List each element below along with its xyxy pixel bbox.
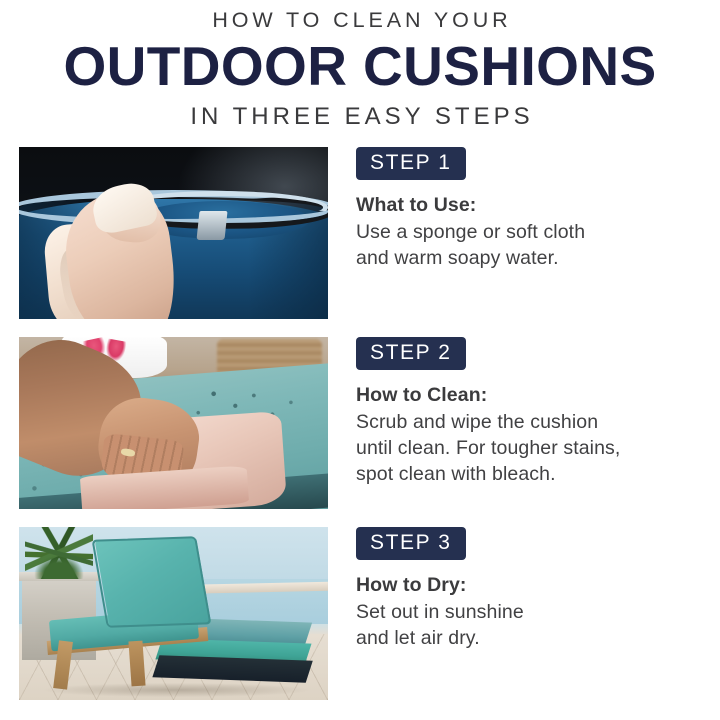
step-2-text-column: STEP 2 How to Clean: Scrub and wipe the … <box>356 337 706 487</box>
step-3-text-column: STEP 3 How to Dry: Set out in sunshine a… <box>356 527 706 651</box>
furniture-shadow <box>44 683 310 697</box>
step-1-body: Use a sponge or soft cloth and warm soap… <box>356 219 706 271</box>
headline-sub-line: IN THREE EASY STEPS <box>0 102 720 132</box>
chaise-back-cushion-outline <box>92 536 212 628</box>
step-1-photo <box>19 147 328 319</box>
step-3-photo <box>19 527 328 700</box>
step-2-badge: STEP 2 <box>356 337 466 370</box>
step-1-badge: STEP 1 <box>356 147 466 180</box>
step-3-heading: How to Dry: <box>356 574 706 597</box>
step-2-body: Scrub and wipe the cushion until clean. … <box>356 409 706 487</box>
step-1-text-column: STEP 1 What to Use: Use a sponge or soft… <box>356 147 706 271</box>
step-2-heading: How to Clean: <box>356 384 706 407</box>
infographic-header: HOW TO CLEAN YOUR OUTDOOR CUSHIONS IN TH… <box>0 0 720 132</box>
step-1-heading: What to Use: <box>356 194 706 217</box>
step-3-body: Set out in sunshine and let air dry. <box>356 599 706 651</box>
headline-main-title: OUTDOOR CUSHIONS <box>0 36 720 96</box>
step-3-badge: STEP 3 <box>356 527 466 560</box>
headline-top-line: HOW TO CLEAN YOUR <box>0 6 720 34</box>
bucket-handle-tab <box>197 211 228 240</box>
agave-plant-base <box>34 555 83 579</box>
step-2-photo <box>19 337 328 509</box>
